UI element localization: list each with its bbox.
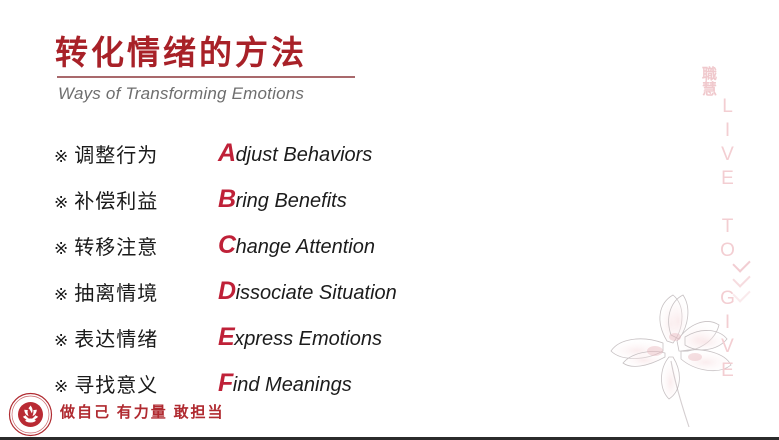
- method-english-label: ind Meanings: [233, 374, 352, 396]
- method-initial-cap: A: [218, 139, 236, 167]
- method-english: Adjust Behaviors: [218, 139, 372, 168]
- method-chinese-label: 寻找意义: [74, 375, 158, 397]
- method-chinese: ※转移注意: [54, 231, 218, 260]
- method-chinese-label: 表达情绪: [74, 329, 158, 351]
- svg-text:· · · · · · ·: · · · · · · ·: [26, 432, 36, 435]
- method-english-label: xpress Emotions: [234, 328, 382, 350]
- method-english: Change Attention: [218, 231, 375, 260]
- method-english: Express Emotions: [218, 323, 382, 352]
- method-chinese-label: 转移注意: [74, 237, 158, 259]
- list-item: ※抽离情境 Dissociate Situation: [54, 268, 524, 314]
- brand-tagline-vertical: LIVE TO GIVE: [716, 96, 738, 384]
- method-initial-cap: B: [218, 185, 236, 213]
- list-item: ※表达情绪 Express Emotions: [54, 314, 524, 360]
- method-chinese: ※补偿利益: [54, 185, 218, 214]
- list-item: ※补偿利益 Bring Benefits: [54, 176, 524, 222]
- list-item: ※转移注意 Change Attention: [54, 222, 524, 268]
- list-item: ※寻找意义 Find Meanings: [54, 360, 524, 406]
- method-english-label: djust Behaviors: [236, 144, 373, 166]
- method-initial-cap: E: [218, 323, 234, 351]
- footer-slogan: 做自己 有力量 敢担当: [60, 401, 225, 422]
- chevron-down-icon: [732, 284, 750, 302]
- method-english-label: hange Attention: [236, 236, 375, 258]
- asterism-icon: ※: [54, 331, 69, 350]
- slide-title-chinese: 转化情绪的方法: [55, 26, 307, 74]
- asterism-icon: ※: [54, 377, 69, 396]
- list-item: ※调整行为 Adjust Behaviors: [54, 130, 524, 176]
- brand-chinese-mark: 職 慧: [702, 68, 742, 98]
- method-initial-cap: D: [218, 277, 236, 305]
- method-english-label: ring Benefits: [236, 190, 347, 212]
- method-chinese: ※抽离情境: [54, 277, 218, 306]
- method-initial-cap: C: [218, 231, 236, 259]
- title-divider: [57, 76, 355, 78]
- method-chinese: ※调整行为: [54, 139, 218, 168]
- method-chinese-label: 抽离情境: [74, 283, 158, 305]
- method-chinese-label: 调整行为: [74, 145, 158, 167]
- method-english-label: issociate Situation: [236, 282, 397, 304]
- method-chinese: ※表达情绪: [54, 323, 218, 352]
- method-english: Dissociate Situation: [218, 277, 397, 306]
- method-initial-cap: F: [218, 369, 233, 397]
- methods-list: ※调整行为 Adjust Behaviors ※补偿利益 Bring Benef…: [54, 130, 524, 406]
- method-english: Find Meanings: [218, 369, 352, 398]
- asterism-icon: ※: [54, 239, 69, 258]
- presentation-slide: 職 慧 LIVE TO GIVE 转化情绪的方法 Ways of Transfo…: [0, 0, 779, 440]
- brand-cn-line1: 職: [702, 68, 742, 83]
- method-chinese-label: 补偿利益: [74, 191, 158, 213]
- asterism-icon: ※: [54, 193, 69, 212]
- chevron-down-icon-group: [728, 258, 754, 303]
- asterism-icon: ※: [54, 147, 69, 166]
- asterism-icon: ※: [54, 285, 69, 304]
- method-english: Bring Benefits: [218, 185, 347, 214]
- slide-subtitle-english: Ways of Transforming Emotions: [58, 84, 304, 104]
- institute-emblem-logo: · · · · · · · · · · · · · · · ·: [8, 392, 53, 437]
- method-chinese: ※寻找意义: [54, 369, 218, 398]
- svg-text:· · · · · · · · ·: · · · · · · · · ·: [24, 395, 37, 398]
